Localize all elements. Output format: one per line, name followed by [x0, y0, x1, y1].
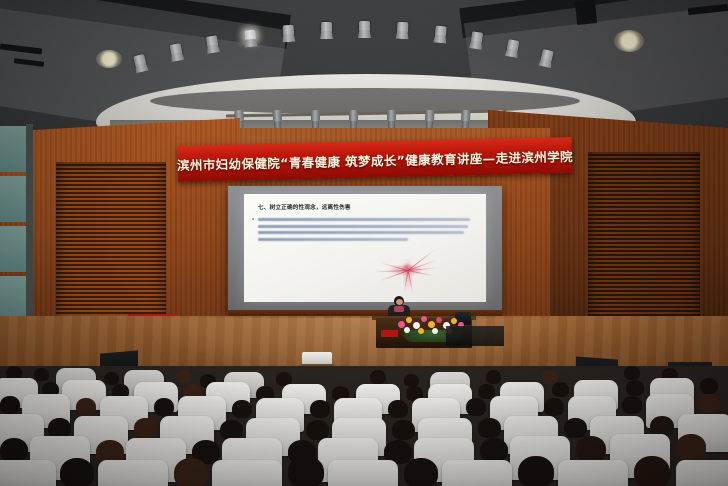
side-acoustic-panel-1	[0, 126, 26, 172]
attendee-head	[0, 438, 28, 462]
banner-text: 滨州市妇幼保健院“青春健康 筑梦成长”健康教育讲座—走进滨州学院	[177, 146, 573, 174]
slide-title: 七、树立正确的性观念，远离性伤害	[258, 203, 351, 211]
seat	[558, 460, 628, 486]
attendee-head	[392, 420, 415, 440]
attendee-head	[480, 438, 508, 462]
attendee-head	[176, 370, 191, 383]
spotlight-7	[358, 21, 371, 38]
seat	[212, 460, 282, 486]
seat	[442, 460, 512, 486]
attendee-head	[634, 456, 670, 486]
attendee-head	[34, 368, 49, 381]
attendee-head	[232, 400, 252, 418]
slide-text-line-3	[258, 231, 464, 234]
seat	[328, 460, 398, 486]
spotlight-10	[469, 31, 484, 50]
attendee-head	[564, 418, 587, 438]
attendee-head	[288, 456, 324, 486]
attendee-head	[698, 394, 720, 413]
attendee-head	[404, 374, 419, 387]
attendee-head	[60, 458, 94, 486]
side-acoustic-panel-2	[0, 176, 26, 222]
attendee-head	[0, 396, 20, 414]
slatted-panel-left	[56, 162, 166, 330]
spotlight-6	[320, 22, 333, 39]
side-acoustic-panel-3	[0, 226, 26, 272]
slide-bullet-marker	[252, 218, 254, 220]
attendee-head	[388, 400, 408, 418]
slide-floral-graphic	[362, 244, 454, 300]
attendee-head	[466, 398, 486, 416]
attendee-head	[76, 398, 96, 416]
slide-text-line-4	[258, 238, 408, 241]
spotlight-9	[433, 25, 447, 43]
seat	[0, 460, 56, 486]
slatted-panel-right	[588, 152, 700, 330]
attendee-head	[154, 398, 174, 416]
attendee-head	[478, 418, 501, 438]
attendee-head	[174, 458, 208, 486]
downlight-right	[614, 30, 644, 52]
attendee-head	[370, 370, 386, 384]
slide-text-line-2	[258, 225, 468, 228]
spotlight-4	[243, 29, 257, 47]
attendee-head	[624, 366, 640, 380]
attendee-head	[626, 380, 644, 396]
slide-body-text	[258, 218, 472, 244]
soffit-recess	[150, 88, 580, 114]
spotlight-2	[169, 43, 185, 62]
attendee-head	[576, 436, 606, 462]
spotlight-5	[282, 25, 296, 43]
attendee-head	[104, 372, 119, 385]
ceiling-vent-4	[575, 0, 597, 25]
spotlight-8	[396, 22, 410, 40]
attendee-head	[220, 420, 243, 440]
downlight-left	[96, 50, 122, 68]
attendee-head	[676, 434, 706, 460]
attendee-head	[622, 396, 642, 414]
attendee-head	[552, 382, 569, 397]
projected-slide: 七、树立正确的性观念，远离性伤害	[244, 194, 486, 302]
side-panel-divider	[26, 124, 33, 324]
av-rack-right	[446, 326, 504, 346]
attendee-head	[134, 418, 157, 438]
attendee-head	[544, 398, 564, 416]
attendee-head	[404, 458, 438, 486]
attendee-head	[306, 420, 329, 440]
attendee-head	[310, 400, 330, 418]
attendee-head	[48, 418, 71, 438]
spotlight-3	[205, 35, 220, 54]
side-acoustic-panel-4	[0, 276, 26, 320]
seat	[98, 460, 168, 486]
attendee-head	[700, 378, 718, 394]
presenter-scarf	[394, 306, 404, 312]
attendee-head	[486, 370, 501, 384]
auditorium-photo: 滨州市妇幼保健院“青春健康 筑梦成长”健康教育讲座—走进滨州学院 七、树立正确的…	[0, 0, 728, 486]
attendee-head	[478, 384, 495, 399]
slide-text-line-1	[258, 218, 470, 221]
seat	[676, 460, 728, 486]
attendee-head	[518, 456, 554, 486]
